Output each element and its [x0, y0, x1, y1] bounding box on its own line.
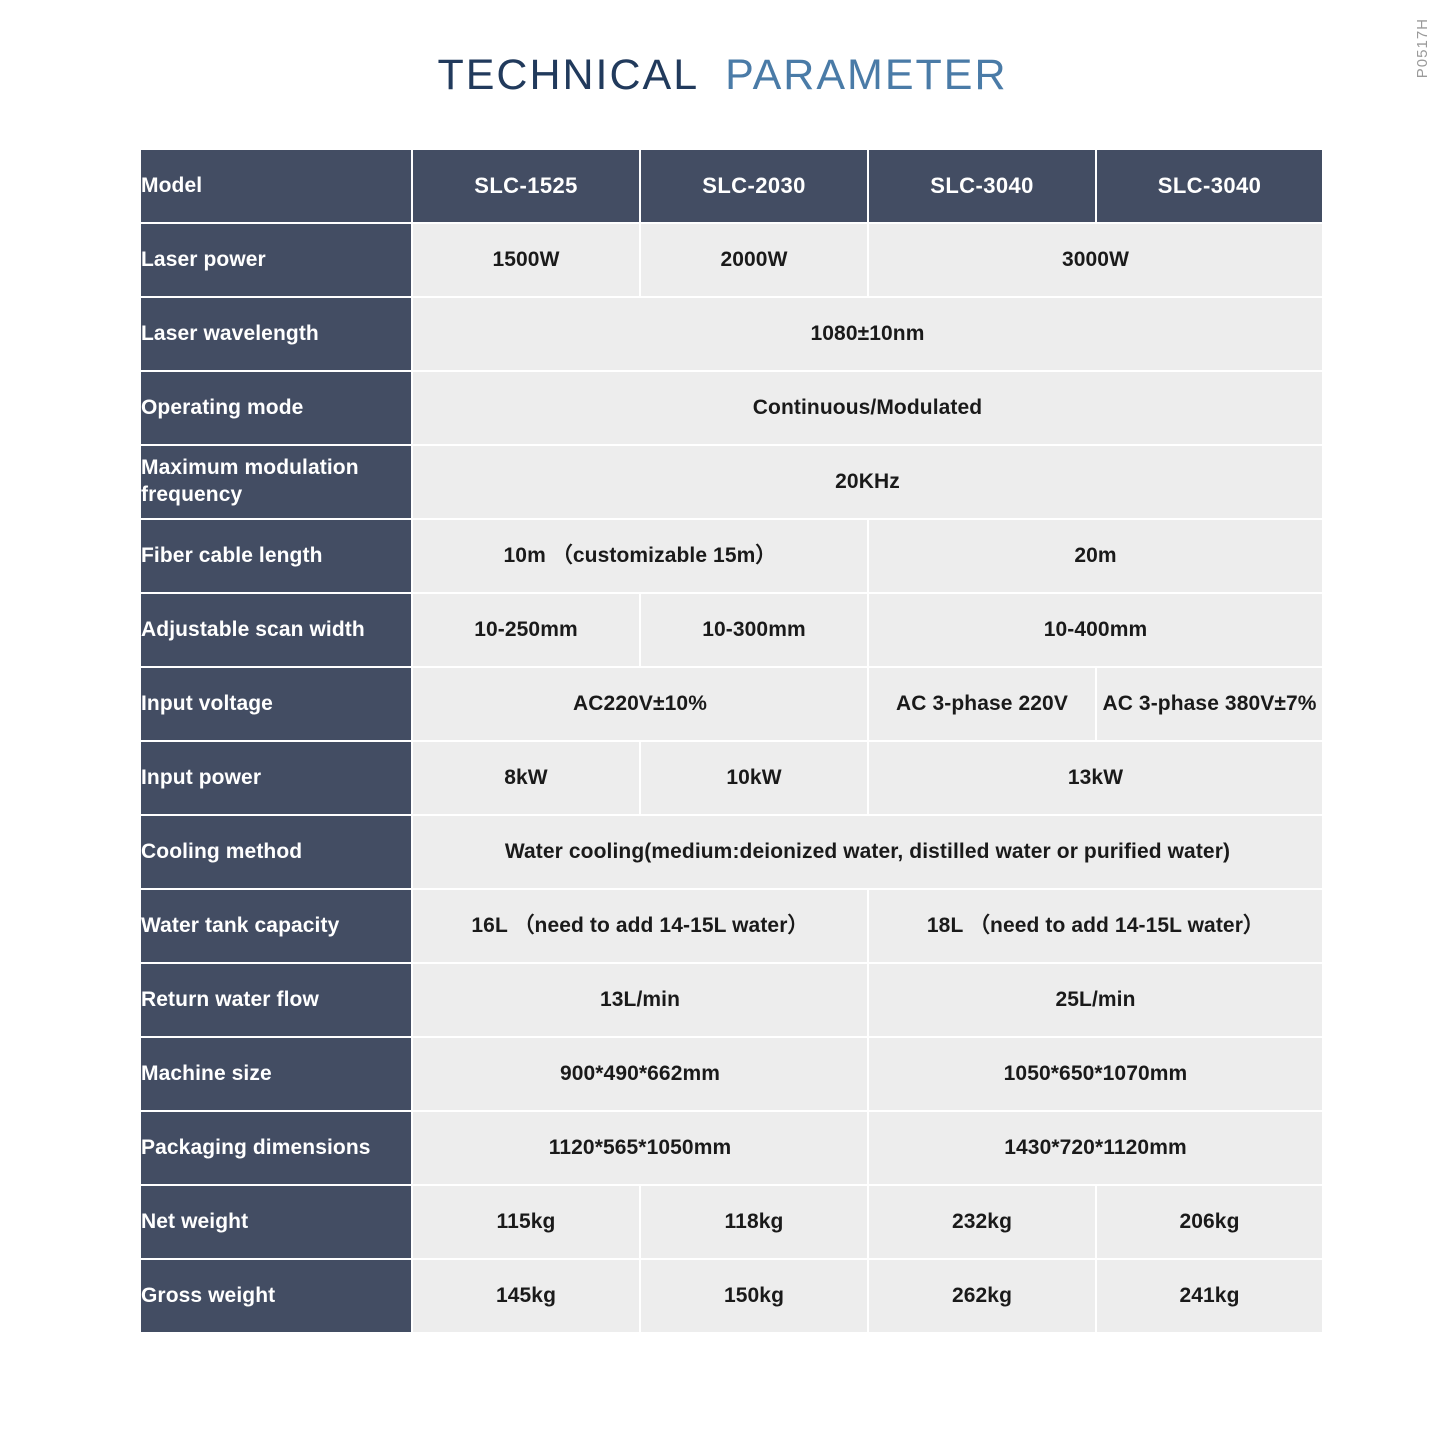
row-value-cell: AC 3-phase 380V±7% [1097, 668, 1322, 740]
row-value-cell: 20m [869, 520, 1322, 592]
row-label: Laser power [141, 224, 411, 296]
corner-reference-code: P0517H [1414, 18, 1431, 78]
row-label: Net weight [141, 1186, 411, 1258]
row-label: Input power [141, 742, 411, 814]
table-header-row: Model SLC-1525 SLC-2030 SLC-3040 SLC-304… [141, 150, 1322, 222]
table-row: Machine size900*490*662mm1050*650*1070mm [141, 1038, 1322, 1110]
table-row: Packaging dimensions1120*565*1050mm1430*… [141, 1112, 1322, 1184]
table-row: Water tank capacity16L （need to add 14-1… [141, 890, 1322, 962]
header-cell-model-2: SLC-2030 [641, 150, 867, 222]
table-row: Adjustable scan width10-250mm10-300mm10-… [141, 594, 1322, 666]
header-cell-model-4: SLC-3040 [1097, 150, 1322, 222]
page-title: TechnicalParameter [0, 38, 1445, 100]
row-value-cell: 115kg [413, 1186, 639, 1258]
table-row: Input voltageAC220V±10%AC 3-phase 220VAC… [141, 668, 1322, 740]
row-value-cell: 8kW [413, 742, 639, 814]
table-row: Maximum modulation frequency20KHz [141, 446, 1322, 518]
row-value-cell: 10-300mm [641, 594, 867, 666]
table-body: Laser power1500W2000W3000WLaser waveleng… [141, 224, 1322, 1332]
row-label: Adjustable scan width [141, 594, 411, 666]
row-value-cell: 262kg [869, 1260, 1095, 1332]
row-label: Water tank capacity [141, 890, 411, 962]
row-value-cell: AC220V±10% [413, 668, 867, 740]
header-cell-model-1: SLC-1525 [413, 150, 639, 222]
table-header: Model SLC-1525 SLC-2030 SLC-3040 SLC-304… [141, 150, 1322, 222]
row-label: Return water flow [141, 964, 411, 1036]
row-value-cell: 118kg [641, 1186, 867, 1258]
row-value-cell: 900*490*662mm [413, 1038, 867, 1110]
table-row: Laser power1500W2000W3000W [141, 224, 1322, 296]
table-row: Input power8kW10kW13kW [141, 742, 1322, 814]
table-row: Cooling methodWater cooling(medium:deion… [141, 816, 1322, 888]
row-label: Input voltage [141, 668, 411, 740]
row-value-cell: 10-250mm [413, 594, 639, 666]
row-value-cell: 145kg [413, 1260, 639, 1332]
page-title-word-technical: Technical [437, 34, 699, 103]
row-label: Operating mode [141, 372, 411, 444]
row-value-cell: 241kg [1097, 1260, 1322, 1332]
row-value-cell: 1080±10nm [413, 298, 1322, 370]
row-value-cell: 18L （need to add 14-15L water） [869, 890, 1322, 962]
row-label: Fiber cable length [141, 520, 411, 592]
row-value-cell: 10-400mm [869, 594, 1322, 666]
table-row: Laser wavelength1080±10nm [141, 298, 1322, 370]
table-row: Operating modeContinuous/Modulated [141, 372, 1322, 444]
row-label: Gross weight [141, 1260, 411, 1332]
table-row: Return water flow13L/min25L/min [141, 964, 1322, 1036]
row-value-cell: 16L （need to add 14-15L water） [413, 890, 867, 962]
row-value-cell: 13kW [869, 742, 1322, 814]
row-label: Cooling method [141, 816, 411, 888]
row-value-cell: 1050*650*1070mm [869, 1038, 1322, 1110]
row-value-cell: 1500W [413, 224, 639, 296]
row-value-cell: 150kg [641, 1260, 867, 1332]
row-value-cell: 2000W [641, 224, 867, 296]
row-value-cell: 10kW [641, 742, 867, 814]
header-cell-model-3: SLC-3040 [869, 150, 1095, 222]
row-label: Laser wavelength [141, 298, 411, 370]
row-value-cell: 25L/min [869, 964, 1322, 1036]
row-value-cell: 13L/min [413, 964, 867, 1036]
row-label: Maximum modulation frequency [141, 446, 411, 518]
row-value-cell: 20KHz [413, 446, 1322, 518]
row-value-cell: 232kg [869, 1186, 1095, 1258]
table-row: Net weight115kg118kg232kg206kg [141, 1186, 1322, 1258]
table-row: Fiber cable length10m （customizable 15m）… [141, 520, 1322, 592]
row-value-cell: Continuous/Modulated [413, 372, 1322, 444]
page-title-word-parameter: Parameter [725, 34, 1007, 103]
row-value-cell: 10m （customizable 15m） [413, 520, 867, 592]
row-value-cell: 206kg [1097, 1186, 1322, 1258]
row-label: Packaging dimensions [141, 1112, 411, 1184]
row-value-cell: AC 3-phase 220V [869, 668, 1095, 740]
row-value-cell: Water cooling(medium:deionized water, di… [413, 816, 1322, 888]
row-value-cell: 1120*565*1050mm [413, 1112, 867, 1184]
row-value-cell: 1430*720*1120mm [869, 1112, 1322, 1184]
header-cell-model: Model [141, 150, 411, 222]
row-value-cell: 3000W [869, 224, 1322, 296]
table-row: Gross weight145kg150kg262kg241kg [141, 1260, 1322, 1332]
technical-parameter-table: Model SLC-1525 SLC-2030 SLC-3040 SLC-304… [139, 148, 1324, 1334]
row-label: Machine size [141, 1038, 411, 1110]
